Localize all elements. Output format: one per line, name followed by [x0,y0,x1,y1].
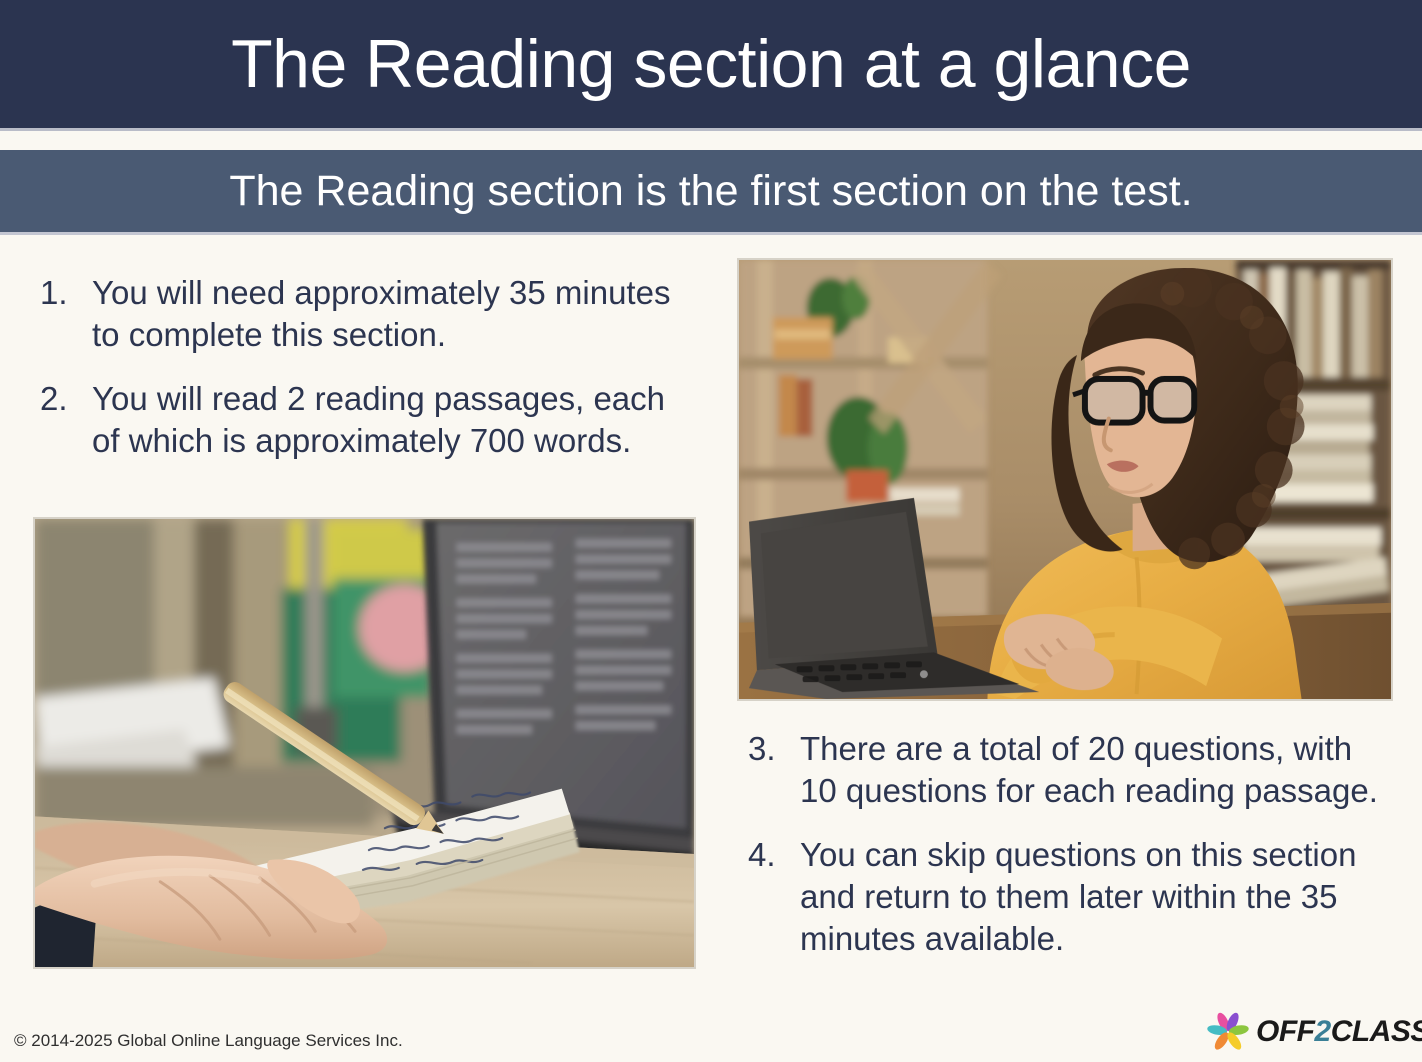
list-item: 2. You will read 2 reading passages, eac… [40,378,690,462]
list-item-number: 1. [40,272,92,314]
title-bar-divider [0,128,1422,131]
right-numbered-list: 3. There are a total of 20 questions, wi… [748,728,1388,960]
list-item-number: 4. [748,834,800,876]
subtitle-bar-divider [0,232,1422,235]
page-subtitle: The Reading section is the first section… [229,170,1192,213]
list-item-number: 2. [40,378,92,420]
page-title: The Reading section at a glance [231,30,1191,98]
list-item-text: You will read 2 reading passages, each o… [92,378,690,462]
logo-text-part1: OFF [1256,1015,1315,1048]
list-item-text: You can skip questions on this section a… [800,834,1388,960]
copyright-notice: © 2014-2025 Global Online Language Servi… [14,1032,403,1049]
list-item: 1. You will need approximately 35 minute… [40,272,690,356]
logo-text-accent: 2 [1315,1015,1331,1048]
list-item-text: There are a total of 20 questions, with … [800,728,1388,812]
photo-woman-typing-laptop [737,258,1393,701]
off2class-logo: OFF2CLASS® [1204,1010,1422,1054]
list-item-number: 3. [748,728,800,770]
photo-hand-writing-notebook-image [35,519,694,967]
subtitle-bar: The Reading section is the first section… [0,150,1422,232]
logo-wordmark: OFF2CLASS® [1256,1017,1422,1047]
left-numbered-list: 1. You will need approximately 35 minute… [40,272,690,462]
photo-woman-typing-laptop-image [739,260,1391,699]
list-item: 4. You can skip questions on this sectio… [748,834,1388,960]
logo-text-part2: CLASS [1331,1015,1422,1048]
list-item: 3. There are a total of 20 questions, wi… [748,728,1388,812]
title-bar: The Reading section at a glance [0,0,1422,128]
pinwheel-flower-icon [1204,1011,1252,1053]
list-item-text: You will need approximately 35 minutes t… [92,272,690,356]
photo-hand-writing-notebook [33,517,696,969]
slide: The Reading section at a glance The Read… [0,0,1422,1062]
